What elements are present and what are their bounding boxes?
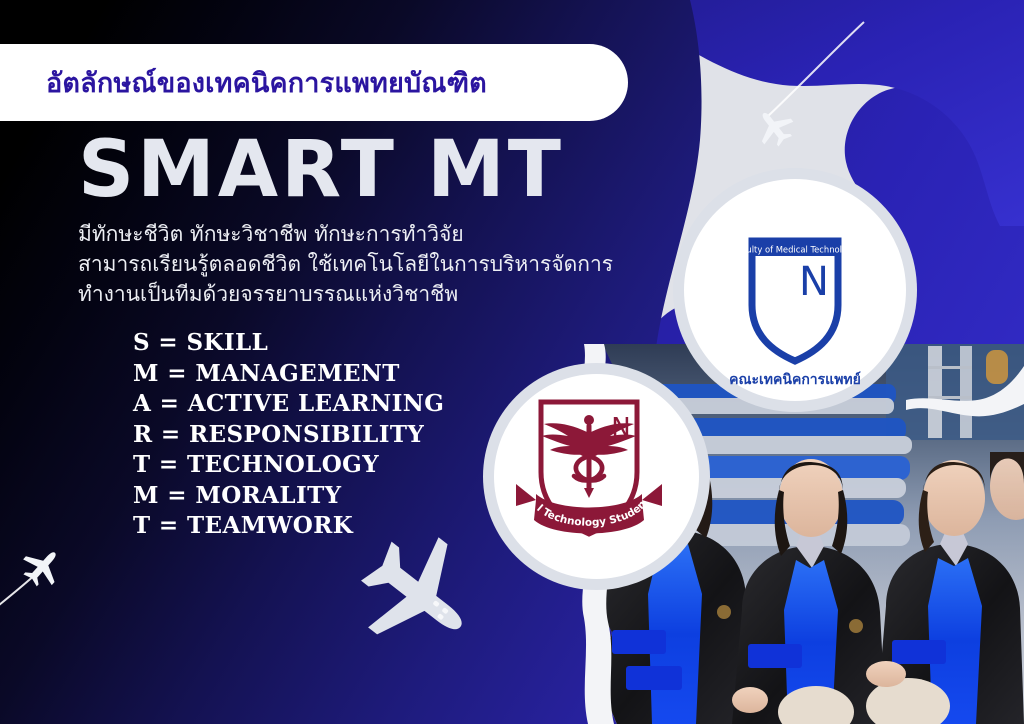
acronym-item-skill: S = SKILL (133, 328, 444, 359)
poster-canvas: อัตลักษณ์ของเทคนิคการแพทยบัณฑิต SMART MT… (0, 0, 1024, 724)
page-title: SMART MT (78, 131, 564, 209)
airplane-icon (754, 105, 796, 147)
student-club-logo-badge: N Medical Technology Student Club (494, 374, 699, 579)
faculty-shield-top-text: Faculty of Medical Technology (733, 245, 858, 255)
student-club-shield-icon: N Medical Technology Student Club (494, 374, 699, 579)
acronym-item-active-learning: A = ACTIVE LEARNING (133, 389, 444, 420)
airplane-icon (355, 536, 477, 658)
faculty-shield-icon: Faculty of Medical Technology N คณะเทคนิ… (684, 179, 906, 401)
acronym-item-management: M = MANAGEMENT (133, 359, 444, 390)
headline-text: อัตลักษณ์ของเทคนิคการแพทยบัณฑิต (46, 61, 487, 104)
faculty-shield-monogram: N (799, 259, 829, 305)
student-club-monogram: N (611, 413, 630, 443)
description-line: มีทักษะชีวิต ทักษะวิชาชีพ ทักษะการทำวิจั… (78, 219, 613, 249)
acronym-list: S = SKILL M = MANAGEMENT A = ACTIVE LEAR… (133, 328, 444, 542)
acronym-item-technology: T = TECHNOLOGY (133, 450, 444, 481)
acronym-item-responsibility: R = RESPONSIBILITY (133, 420, 444, 451)
description-line: สามารถเรียนรู้ตลอดชีวิต ใช้เทคโนโลยีในกา… (78, 249, 613, 279)
faculty-logo-badge: Faculty of Medical Technology N คณะเทคนิ… (684, 179, 906, 401)
headline-pill: อัตลักษณ์ของเทคนิคการแพทยบัณฑิต (0, 44, 628, 121)
description-line: ทำงานเป็นทีมด้วยจรรยาบรรณแห่งวิชาชีพ (78, 279, 613, 309)
faculty-logo-caption: คณะเทคนิคการแพทย์ (729, 371, 861, 388)
airplane-icon (22, 545, 66, 589)
acronym-item-morality: M = MORALITY (133, 481, 444, 512)
description-block: มีทักษะชีวิต ทักษะวิชาชีพ ทักษะการทำวิจั… (78, 219, 613, 309)
